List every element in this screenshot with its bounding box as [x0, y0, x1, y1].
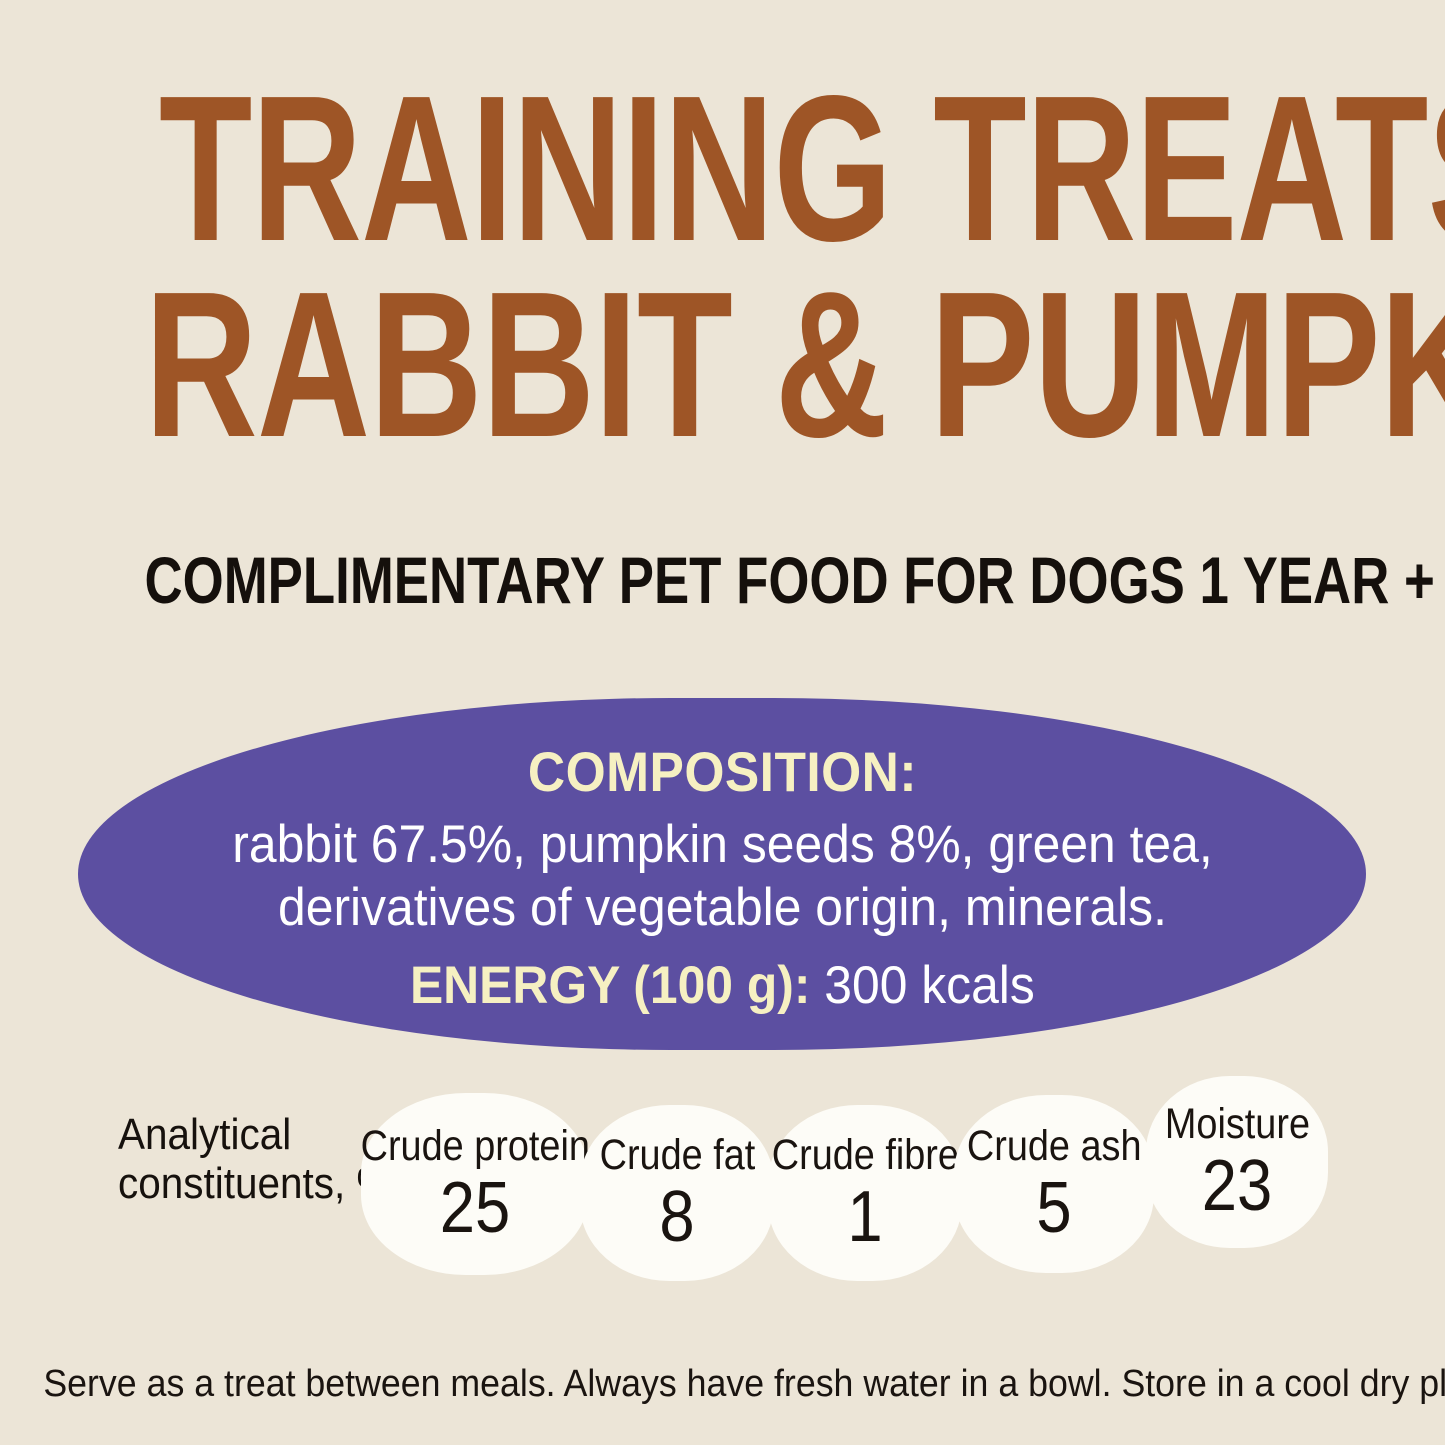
- energy-value: 300 kcals: [824, 956, 1034, 1015]
- product-title-line-1: TRAINING TREATS: [159, 73, 1286, 266]
- analytical-label-line-1: Analytical: [118, 1110, 393, 1159]
- composition-heading: COMPOSITION:: [527, 744, 916, 800]
- nutrient-name: Moisture: [1164, 1103, 1309, 1146]
- composition-body: rabbit 67.5%, pumpkin seeds 8%, green te…: [232, 814, 1212, 939]
- analytical-constituents-row: Analytical constituents, % Crude protein…: [0, 1065, 1445, 1295]
- composition-body-line-2: derivatives of vegetable origin, mineral…: [232, 877, 1212, 940]
- nutrient-name: Crude fat: [599, 1134, 755, 1177]
- composition-panel: COMPOSITION: rabbit 67.5%, pumpkin seeds…: [78, 698, 1366, 1050]
- nutrient-blob-moisture: Moisture 23: [1146, 1076, 1328, 1248]
- energy-label: ENERGY (100 g):: [410, 956, 811, 1015]
- feeding-instructions-note: Serve as a treat between meals. Always h…: [43, 1363, 1401, 1406]
- nutrient-value: 25: [440, 1172, 510, 1244]
- energy-line: ENERGY (100 g): 300 kcals: [410, 959, 1035, 1012]
- nutrient-name: Crude protein: [360, 1125, 589, 1168]
- header-title-block: TRAINING TREATS RABBIT & PUMPKIN SEEDS: [0, 78, 1445, 457]
- nutrient-blob-crude-fat: Crude fat 8: [580, 1105, 774, 1281]
- product-title-line-2: RABBIT & PUMPKIN SEEDS: [145, 269, 1301, 462]
- nutrient-name: Crude ash: [967, 1125, 1142, 1168]
- nutrient-value: 1: [847, 1181, 882, 1253]
- nutrient-blob-crude-ash: Crude ash 5: [954, 1095, 1154, 1273]
- analytical-label-line-2: constituents, %: [118, 1159, 393, 1208]
- nutrient-value: 23: [1202, 1150, 1272, 1222]
- nutrient-blob-crude-protein: Crude protein 25: [361, 1093, 589, 1275]
- nutrient-value: 8: [659, 1181, 694, 1253]
- nutrient-blob-crude-fibre: Crude fibre 1: [768, 1105, 962, 1281]
- product-subtitle: COMPLIMENTARY PET FOOD FOR DOGS 1 YEAR +: [145, 542, 1301, 618]
- analytical-constituents-label: Analytical constituents, %: [118, 1110, 393, 1209]
- pet-food-label: TRAINING TREATS RABBIT & PUMPKIN SEEDS C…: [0, 0, 1445, 1445]
- composition-body-line-1: rabbit 67.5%, pumpkin seeds 8%, green te…: [232, 814, 1212, 877]
- nutrient-name: Crude fibre: [771, 1134, 958, 1177]
- nutrient-value: 5: [1036, 1172, 1071, 1244]
